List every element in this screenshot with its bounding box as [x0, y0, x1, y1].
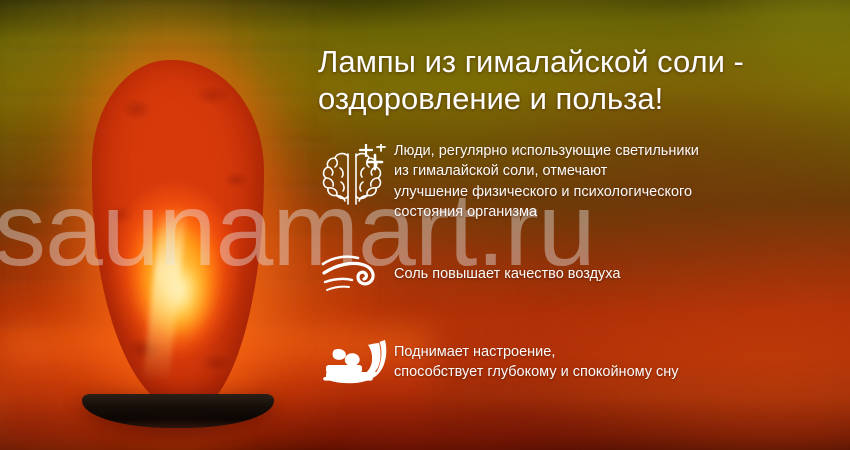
banner-headline: Лампы из гималайской соли - оздоровление… — [318, 44, 834, 117]
benefit-text: Поднимает настроение, способствует глубо… — [394, 342, 679, 383]
benefit-item: Поднимает настроение, способствует глубо… — [318, 326, 834, 398]
brain-sparkle-icon — [318, 141, 394, 213]
benefit-item: Люди, регулярно использующие светильники… — [318, 139, 834, 222]
salt-lamp-promo-banner: saunamart.ru Лампы из гималайской соли -… — [0, 0, 850, 450]
benefit-item: Соль повышает качество воздуха — [318, 238, 834, 310]
salt-lamp-product-image — [78, 60, 278, 450]
lamp-cast-shadow — [72, 418, 284, 444]
benefit-text: Люди, регулярно использующие светильники… — [394, 139, 699, 222]
sleeping-person-icon — [318, 326, 394, 398]
benefits-list: Люди, регулярно использующие светильники… — [318, 139, 834, 398]
wind-air-icon — [318, 238, 394, 310]
banner-content: Лампы из гималайской соли - оздоровление… — [318, 44, 834, 412]
benefit-text: Соль повышает качество воздуха — [394, 264, 620, 284]
